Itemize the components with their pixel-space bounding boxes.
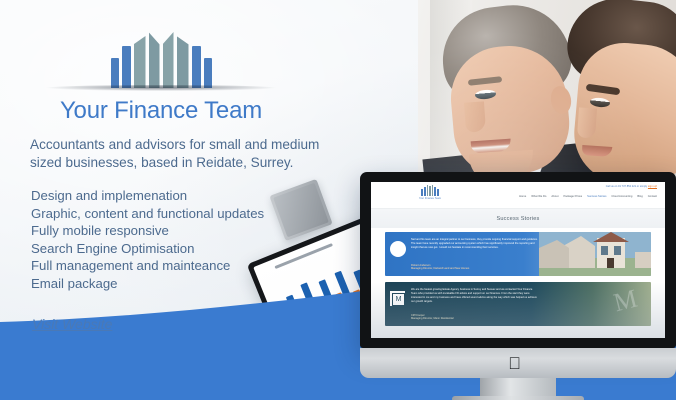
website-preview[interactable]: Your Finance Team Call us on 01 737 852 … bbox=[371, 182, 665, 338]
advert-canvas: Your Finance Team Call us on 01 737 852 … bbox=[0, 0, 676, 400]
site-nav-item[interactable]: What We Do bbox=[531, 195, 546, 198]
site-header: Your Finance Team Call us on 01 737 852 … bbox=[371, 182, 665, 209]
city-backdrop bbox=[371, 282, 665, 338]
site-hero: Success Stories bbox=[371, 209, 665, 228]
imac-device: Your Finance Team Call us on 01 737 852 … bbox=[360, 172, 676, 400]
laptop-device bbox=[269, 179, 332, 241]
intro-line-2: sized businesses, based in Reidate, Surr… bbox=[30, 154, 330, 172]
site-nav-item[interactable]: Home bbox=[519, 195, 526, 198]
feature-item: Search Engine Optimisation bbox=[31, 240, 264, 258]
site-nav[interactable]: Home What We Do About Package Prices Suc… bbox=[519, 195, 657, 198]
testimonial-card: Neil and his team are an integral partne… bbox=[385, 232, 651, 276]
apple-logo-icon:  bbox=[506, 354, 523, 373]
site-nav-item[interactable]: Blog bbox=[637, 195, 642, 198]
feature-list: Design and implemenation Graphic, conten… bbox=[31, 187, 264, 293]
imac-screen: Your Finance Team Call us on 01 737 852 … bbox=[371, 182, 665, 338]
site-call-line: Call us on 01 737 852 221 or simply sign… bbox=[606, 185, 657, 188]
site-logo-text: Your Finance Team bbox=[409, 197, 451, 200]
brand-logo-mark bbox=[26, 26, 296, 88]
brand-wordmark: Your Finance Team bbox=[26, 97, 296, 125]
feature-item: Fully mobile responsive bbox=[31, 222, 264, 240]
site-nav-item[interactable]: About bbox=[551, 195, 558, 198]
visit-website-link[interactable]: Visit Website bbox=[32, 316, 112, 332]
testimonial-author: Robert Anderson Managing Director, Dartw… bbox=[411, 264, 469, 271]
feature-item: Graphic, content and functional updates bbox=[31, 205, 264, 223]
intro-paragraph: Accountants and advisors for small and m… bbox=[30, 136, 330, 172]
house-photo bbox=[539, 232, 651, 276]
imac-bezel: Your Finance Team Call us on 01 737 852 … bbox=[360, 172, 676, 348]
site-logo[interactable]: Your Finance Team bbox=[409, 185, 451, 200]
feature-item: Email package bbox=[31, 275, 264, 293]
testimonial-author-role: Managing Director, Dartwell Land and New… bbox=[411, 267, 469, 271]
intro-line-1: Accountants and advisors for small and m… bbox=[30, 136, 330, 154]
brand-logo-block: Your Finance Team bbox=[26, 26, 296, 125]
feature-item: Full management and mainteance bbox=[31, 257, 264, 275]
site-signup-link[interactable]: sign up! bbox=[648, 185, 657, 188]
site-nav-item-active[interactable]: Success Stories bbox=[587, 195, 606, 198]
site-nav-item[interactable]: Cloud Accounting bbox=[611, 195, 632, 198]
businessmen-photo bbox=[418, 0, 676, 182]
imac-stand-neck bbox=[480, 378, 556, 398]
site-page-title: Success Stories bbox=[371, 216, 665, 222]
site-logo-mark bbox=[409, 185, 451, 196]
imac-stand-foot bbox=[452, 396, 584, 400]
feature-item: Design and implemenation bbox=[31, 187, 264, 205]
testimonial-quote: Neil and his team are an integral partne… bbox=[411, 238, 539, 250]
testimonial-avatar bbox=[390, 241, 406, 257]
site-call-text: Call us on 01 737 852 221 or simply bbox=[606, 185, 648, 188]
site-nav-item[interactable]: Package Prices bbox=[563, 195, 582, 198]
site-nav-item[interactable]: Contact bbox=[648, 195, 657, 198]
